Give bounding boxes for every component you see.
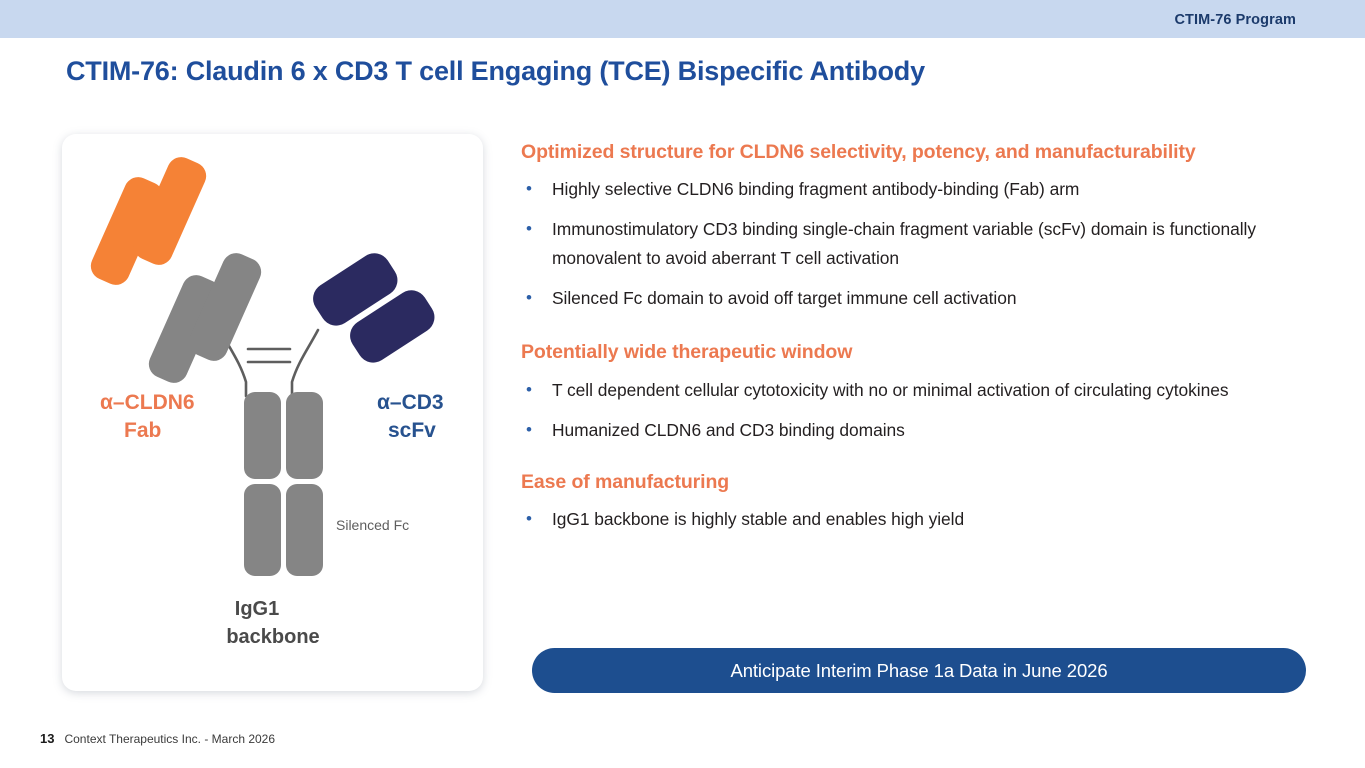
- label-cldn6-fab-line2: Fab: [124, 419, 161, 442]
- list-item: • Humanized CLDN6 and CD3 binding domain…: [521, 416, 1321, 445]
- bullet-list: • T cell dependent cellular cytotoxicity…: [521, 376, 1321, 445]
- silenced-fc-region: [244, 392, 323, 576]
- list-item: • Highly selective CLDN6 binding fragmen…: [521, 175, 1321, 204]
- bullet-dot-icon: •: [521, 215, 552, 242]
- label-silenced-fc: Silenced Fc: [336, 517, 409, 533]
- label-igg1-line1: IgG1: [235, 598, 279, 620]
- milestone-callout-text: Anticipate Interim Phase 1a Data in June…: [730, 660, 1107, 682]
- milestone-callout-banner: Anticipate Interim Phase 1a Data in June…: [532, 648, 1306, 693]
- page-number: 13: [40, 731, 54, 746]
- bullet-list: • IgG1 backbone is highly stable and ena…: [521, 505, 1321, 534]
- ch3-domain-right-icon: [286, 484, 323, 576]
- hinge-region-icon: [220, 330, 318, 396]
- section-ease-of-manufacturing: Ease of manufacturing • IgG1 backbone is…: [521, 471, 1321, 534]
- bullet-text: Highly selective CLDN6 binding fragment …: [552, 175, 1321, 204]
- section-heading: Potentially wide therapeutic window: [521, 341, 1321, 364]
- label-cd3-scfv-line2: scFv: [388, 419, 436, 442]
- ch3-domain-left-icon: [244, 484, 281, 576]
- cd3-scfv-module: [307, 247, 441, 369]
- ch2-domain-left-icon: [244, 392, 281, 479]
- footer: 13 Context Therapeutics Inc. - March 202…: [40, 731, 275, 746]
- section-heading: Ease of manufacturing: [521, 471, 1321, 494]
- ch2-domain-right-icon: [286, 392, 323, 479]
- list-item: • T cell dependent cellular cytotoxicity…: [521, 376, 1321, 405]
- section-spacer: [521, 445, 1321, 471]
- bullet-list: • Highly selective CLDN6 binding fragmen…: [521, 175, 1321, 313]
- section-optimized-structure: Optimized structure for CLDN6 selectivit…: [521, 141, 1321, 313]
- label-cd3-scfv-line1: α–CD3: [377, 391, 444, 414]
- section-therapeutic-window: Potentially wide therapeutic window • T …: [521, 341, 1321, 444]
- list-item: • Immunostimulatory CD3 binding single-c…: [521, 215, 1321, 273]
- bullet-text: T cell dependent cellular cytotoxicity w…: [552, 376, 1321, 405]
- bullet-text: Humanized CLDN6 and CD3 binding domains: [552, 416, 1321, 445]
- bullet-dot-icon: •: [521, 284, 552, 311]
- bullet-dot-icon: •: [521, 505, 552, 532]
- bullet-text: Immunostimulatory CD3 binding single-cha…: [552, 215, 1321, 273]
- bullet-text: IgG1 backbone is highly stable and enabl…: [552, 505, 1321, 534]
- program-label: CTIM-76 Program: [1174, 12, 1296, 28]
- section-spacer: [521, 313, 1321, 341]
- header-band: [0, 0, 1365, 38]
- bullet-dot-icon: •: [521, 416, 552, 443]
- antibody-structure-diagram: α–CLDN6 Fab α–CD3 scFv Silenced Fc IgG1 …: [62, 134, 483, 691]
- bullet-dot-icon: •: [521, 175, 552, 202]
- bullet-dot-icon: •: [521, 376, 552, 403]
- label-igg1-line2: backbone: [226, 626, 319, 648]
- list-item: • IgG1 backbone is highly stable and ena…: [521, 505, 1321, 534]
- bullet-text: Silenced Fc domain to avoid off target i…: [552, 284, 1321, 313]
- list-item: • Silenced Fc domain to avoid off target…: [521, 284, 1321, 313]
- section-heading: Optimized structure for CLDN6 selectivit…: [521, 141, 1321, 164]
- page-title: CTIM-76: Claudin 6 x CD3 T cell Engaging…: [66, 56, 925, 87]
- content-column: Optimized structure for CLDN6 selectivit…: [521, 141, 1321, 534]
- label-cldn6-fab-line1: α–CLDN6: [100, 391, 195, 414]
- footer-attribution: Context Therapeutics Inc. - March 2026: [64, 732, 275, 746]
- antibody-diagram-card: α–CLDN6 Fab α–CD3 scFv Silenced Fc IgG1 …: [62, 134, 483, 691]
